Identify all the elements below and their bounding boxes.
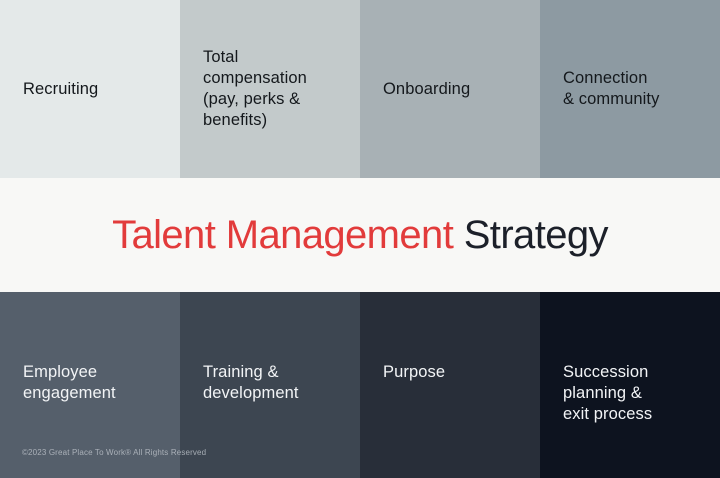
bottom-cell-employee-engagement-label: Employee engagement xyxy=(23,362,126,404)
top-cell-total-compensation[interactable]: Total compensation (pay, perks & benefit… xyxy=(180,0,360,178)
bottom-cell-training-development[interactable]: Training & development xyxy=(180,292,360,478)
page-title: Talent Management Strategy xyxy=(112,215,608,255)
top-cell-recruiting[interactable]: Recruiting xyxy=(0,0,180,178)
bottom-cell-purpose-label: Purpose xyxy=(383,362,455,383)
top-cell-total-compensation-label: Total compensation (pay, perks & benefit… xyxy=(203,47,317,130)
top-cell-connection-community-label: Connection & community xyxy=(563,68,669,110)
top-cell-onboarding[interactable]: Onboarding xyxy=(360,0,540,178)
top-cell-connection-community[interactable]: Connection & community xyxy=(540,0,720,178)
top-row: Recruiting Total compensation (pay, perk… xyxy=(0,0,720,178)
top-cell-onboarding-label: Onboarding xyxy=(383,79,480,100)
bottom-cell-succession-planning-label: Succession planning & exit process xyxy=(563,362,662,424)
bottom-cell-training-development-label: Training & development xyxy=(203,362,309,404)
page-title-accent: Talent Management xyxy=(112,213,453,257)
title-band: Talent Management Strategy xyxy=(0,178,720,292)
bottom-cell-succession-planning[interactable]: Succession planning & exit process xyxy=(540,292,720,478)
top-cell-recruiting-label: Recruiting xyxy=(23,79,108,100)
page-title-rest: Strategy xyxy=(453,213,608,257)
bottom-cell-purpose[interactable]: Purpose xyxy=(360,292,540,478)
copyright-notice: ©2023 Great Place To Work® All Rights Re… xyxy=(22,449,206,457)
infographic-canvas: Recruiting Total compensation (pay, perk… xyxy=(0,0,720,478)
